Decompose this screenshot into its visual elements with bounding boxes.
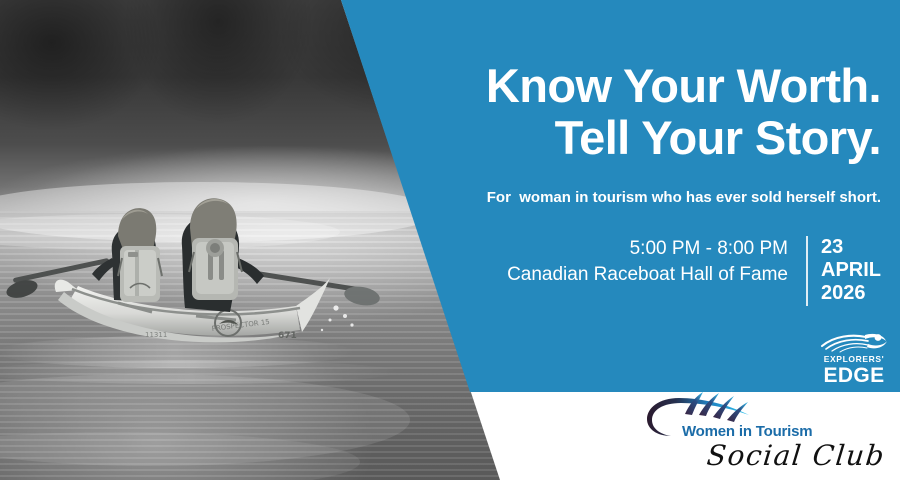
headline-block: Know Your Worth. Tell Your Story. For wo… (361, 60, 881, 208)
page-title: Know Your Worth. Tell Your Story. (361, 60, 881, 164)
event-poster: 11311 PROSPECTOR 15 671 (0, 0, 900, 480)
event-date-year: 2026 (821, 282, 881, 305)
svg-text:671: 671 (278, 331, 297, 341)
event-venue: Canadian Raceboat Hall of Fame (507, 262, 788, 288)
event-time: 5:00 PM - 8:00 PM (507, 236, 788, 262)
headline-line-2: Tell Your Story. (361, 112, 881, 164)
svg-text:11311: 11311 (145, 331, 167, 339)
social-club-script: Social Club (705, 440, 886, 472)
event-details: 5:00 PM - 8:00 PM Canadian Raceboat Hall… (507, 236, 881, 306)
explorers-edge-wordmark: EDGE (818, 365, 890, 387)
wave-swoosh-icon (818, 331, 890, 353)
explorers-edge-logo: EXPLORERS' EDGE (818, 331, 890, 387)
event-date-month: APRIL (821, 259, 881, 282)
subheadline: For woman in tourism who has ever sold h… (361, 188, 881, 208)
women-in-tourism-logo: Women in Tourism Social Club (645, 392, 885, 480)
time-and-venue: 5:00 PM - 8:00 PM Canadian Raceboat Hall… (507, 236, 806, 288)
headline-line-1: Know Your Worth. (486, 59, 881, 112)
event-date: 23 APRIL 2026 (808, 236, 881, 305)
event-date-day: 23 (821, 236, 881, 259)
women-in-tourism-name: Women in Tourism (682, 423, 812, 440)
